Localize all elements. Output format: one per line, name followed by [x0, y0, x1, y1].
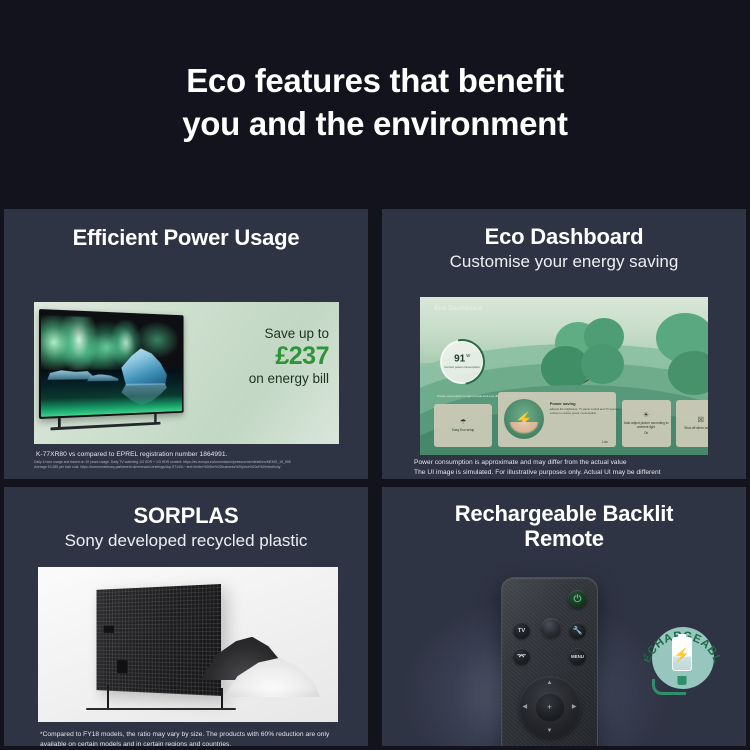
power-heading-block: Efficient Power Usage	[4, 209, 368, 250]
page-title-line2: you and the environment	[182, 103, 567, 145]
card-shut-off[interactable]: ☒ Shut-off when watching	[676, 400, 708, 447]
settings-button[interactable]: 🔧	[569, 622, 586, 639]
card-power-saving[interactable]: ⚡ Power saving Adjusts the brightness, T…	[498, 392, 616, 447]
power-saving-level: Low	[602, 440, 608, 444]
savings-line-1: Save up to	[205, 326, 329, 342]
power-caption-fine-2: Average £0.285 per kwh cost. https://com…	[34, 465, 354, 470]
dashboard-caption-1: Power consumption is approximate and may…	[412, 458, 738, 468]
power-saving-text: Power saving Adjusts the brightness, TV …	[550, 401, 623, 416]
power-captions: K-77XR80 vs compared to EPREL registrati…	[34, 450, 354, 470]
card-shut-off-label: Shut-off when watching	[684, 426, 708, 430]
panel-efficient-power-usage: Efficient Power Usage	[4, 209, 368, 479]
sorplas-caption-2: available on certain models and in certa…	[38, 740, 348, 746]
remote-heading-block: Rechargeable Backlit Remote	[382, 487, 746, 552]
dpad-up-icon[interactable]: ▲	[547, 680, 553, 686]
power-promo-image: Save up to £237 on energy bill	[34, 302, 339, 444]
power-button[interactable]: ⏻	[568, 590, 587, 609]
dpad[interactable]: ▲ ▼ ◀ ▶ +	[519, 676, 581, 738]
gauge-unit: W	[466, 353, 470, 358]
tv-base	[50, 422, 160, 431]
brightness-icon: ☀	[643, 412, 649, 419]
dashboard-subtitle: Customise your energy saving	[382, 252, 746, 272]
card-easy-eco-label: Easy Eco setup	[452, 428, 474, 432]
eco-dashboard-ui-image: Eco Dashboard 91W Current power consumpt…	[420, 297, 708, 455]
sorplas-title: SORPLAS	[4, 503, 368, 528]
tv-connector-box	[103, 626, 113, 633]
page-title-line1: Eco features that benefit	[182, 60, 567, 102]
panel-rechargeable-remote: Rechargeable Backlit Remote ⏻ TV 🔧 ⌤ MEN…	[382, 487, 746, 746]
rechargeable-badge: RECHARGEABLE ⚡	[644, 617, 720, 693]
charging-cord	[652, 679, 686, 695]
savings-callout: Save up to £237 on energy bill	[205, 326, 329, 387]
power-title: Efficient Power Usage	[4, 225, 368, 250]
remote-stage: ⏻ TV 🔧 ⌤ MENU ▲ ▼ ◀ ▶ + ↩ ⌂ +	[382, 557, 746, 746]
remote-control: ⏻ TV 🔧 ⌤ MENU ▲ ▼ ◀ ▶ + ↩ ⌂ +	[501, 577, 598, 746]
sorplas-caption-1: *Compared to FY18 models, the ratio may …	[38, 730, 348, 740]
tree-canopy-4	[581, 344, 624, 384]
hands-icon	[509, 422, 539, 434]
panel-eco-dashboard: Eco Dashboard Customise your energy savi…	[382, 209, 746, 479]
dpad-left-icon[interactable]: ◀	[523, 704, 528, 710]
card-auto-adjust-picture[interactable]: ☀ Auto adjust picture according to ambie…	[622, 400, 671, 447]
tv-module-box	[117, 660, 128, 673]
mic-button[interactable]	[541, 618, 561, 638]
tv-frame	[39, 309, 184, 419]
bolt-icon: ⚡	[674, 648, 690, 661]
savings-amount: £237	[205, 343, 329, 371]
sorplas-image	[38, 567, 338, 722]
select-button[interactable]: +	[535, 693, 564, 722]
sorplas-captions: *Compared to FY18 models, the ratio may …	[38, 730, 348, 746]
power-saving-emblem: ⚡	[504, 399, 544, 439]
card-easy-eco-setup[interactable]: ☂ Easy Eco setup	[434, 404, 492, 447]
power-saving-desc: Adjusts the brightness, TV panel control…	[550, 408, 623, 416]
eco-dashboard-label: Eco Dashboard	[434, 305, 482, 312]
savings-line-3: on energy bill	[205, 371, 329, 387]
dashboard-caption-2: The UI image is simulated. For illustrat…	[412, 468, 738, 478]
gauge-caption: Current power consumption	[444, 366, 480, 370]
gauge-value-wrap: 91W	[454, 354, 470, 364]
dashboard-captions: Power consumption is approximate and may…	[412, 458, 738, 477]
power-consumption-gauge: 91W Current power consumption	[440, 340, 484, 384]
dashboard-title: Eco Dashboard	[382, 224, 746, 249]
tv-illustration	[39, 309, 184, 419]
dashboard-heading-block: Eco Dashboard Customise your energy savi…	[382, 209, 746, 273]
page-title: Eco features that benefit you and the en…	[182, 60, 567, 144]
battery-icon: ⚡	[672, 637, 692, 671]
card-auto-adjust-value: On	[644, 431, 648, 435]
tv-base-bar	[86, 708, 236, 710]
power-caption-main: K-77XR80 vs compared to EPREL registrati…	[34, 450, 354, 460]
sorplas-heading-block: SORPLAS Sony developed recycled plastic	[4, 487, 368, 552]
feature-grid: Efficient Power Usage	[0, 205, 750, 750]
power-saving-title: Power saving	[550, 401, 623, 406]
screen-off-icon: ☒	[698, 417, 704, 424]
tv-screen-aurora	[41, 311, 182, 417]
sorplas-subtitle: Sony developed recycled plastic	[4, 531, 368, 551]
input-button[interactable]: ⌤	[513, 648, 530, 665]
remote-title-line2: Remote	[382, 526, 746, 551]
tv-button[interactable]: TV	[513, 622, 530, 639]
card-auto-adjust-label: Auto adjust picture according to ambient…	[624, 421, 669, 429]
menu-button[interactable]: MENU	[569, 648, 586, 665]
remote-title-line1: Rechargeable Backlit	[382, 501, 746, 526]
eco-leaf-icon: ☂	[460, 419, 466, 426]
tv-leg-left	[107, 685, 109, 710]
page-header: Eco features that benefit you and the en…	[0, 0, 750, 205]
dpad-down-icon[interactable]: ▼	[547, 728, 553, 734]
tv-leg-right	[221, 688, 223, 710]
eco-features-page: Eco features that benefit you and the en…	[0, 0, 750, 750]
dpad-right-icon[interactable]: ▶	[572, 704, 577, 710]
gauge-value: 91	[454, 353, 465, 364]
panel-sorplas: SORPLAS Sony developed recycled plastic …	[4, 487, 368, 746]
